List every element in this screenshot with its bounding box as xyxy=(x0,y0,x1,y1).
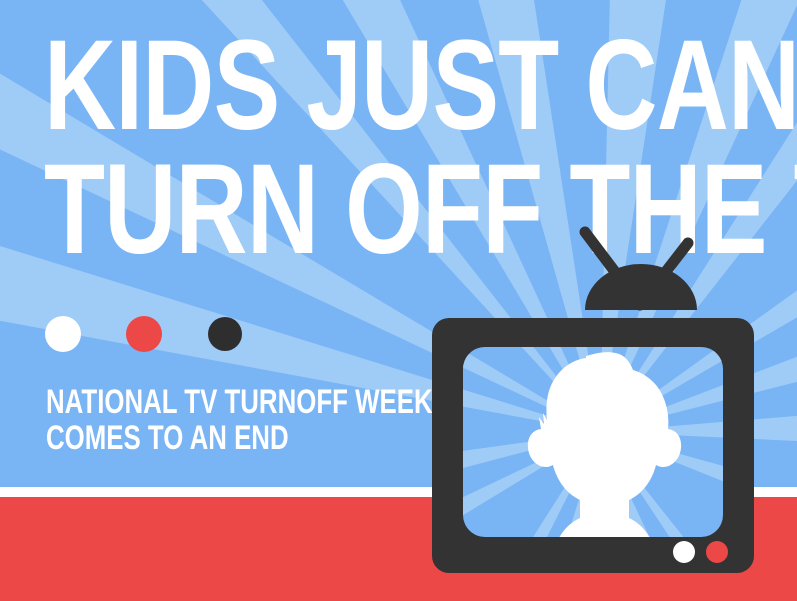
subtitle-line-2: COMES TO AN END xyxy=(46,420,433,456)
dark-dot xyxy=(208,317,242,351)
poster-canvas: KIDS JUST CAN’T TURN OFF THE TV NATIONAL… xyxy=(0,0,797,601)
red-dot xyxy=(126,316,162,352)
tv-knob-red[interactable] xyxy=(706,541,728,563)
subtitle-line-1: NATIONAL TV TURNOFF WEEK xyxy=(46,384,433,420)
headline-line-1: KIDS JUST CAN’T xyxy=(44,24,606,148)
page-subtitle: NATIONAL TV TURNOFF WEEK COMES TO AN END xyxy=(46,384,433,456)
decorative-dot-row xyxy=(45,316,285,356)
tv-antenna-base xyxy=(585,264,697,310)
television-illustration xyxy=(400,210,797,601)
tv-knob-white[interactable] xyxy=(673,541,695,563)
white-dot xyxy=(45,316,81,352)
